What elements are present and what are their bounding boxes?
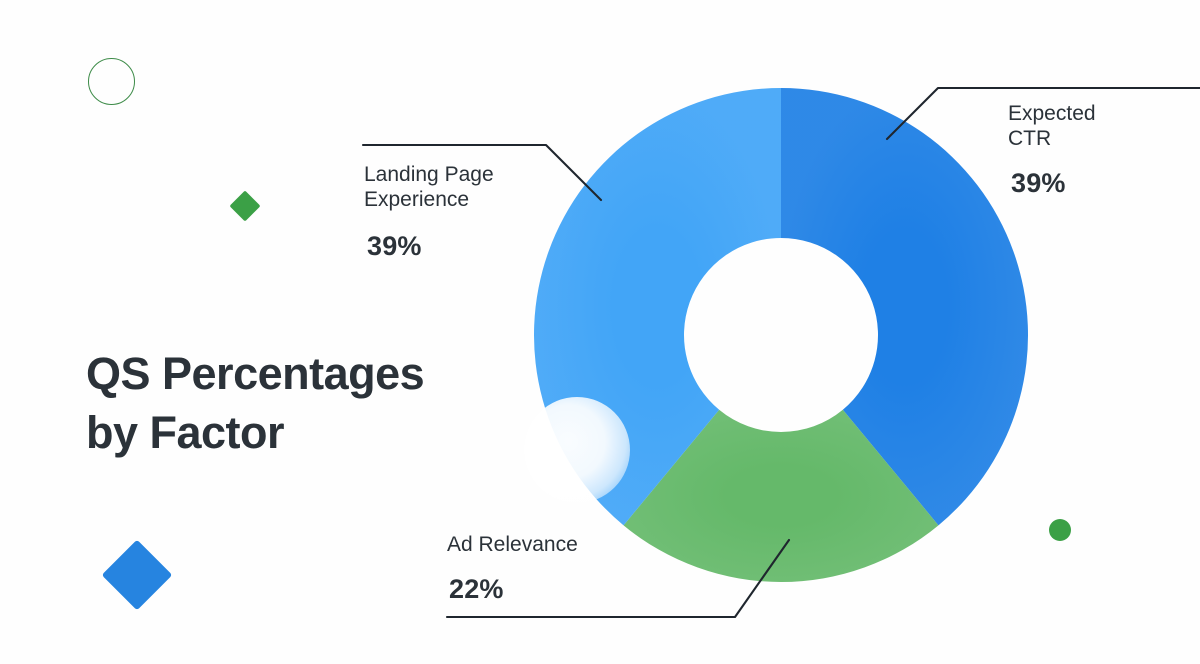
callout-label-landing-page: Landing Page Experience [364,163,494,213]
infographic-canvas: QS Percentages by Factor Landing Page Ex… [0,0,1200,664]
callout-label-expected-ctr: Expected CTR [1008,102,1096,152]
callout-label-ad-relevance: Ad Relevance [447,533,578,558]
donut-slices [534,88,1028,582]
donut-chart [534,88,1028,582]
callout-value-expected-ctr: 39% [1011,168,1066,199]
page-title: QS Percentages by Factor [86,344,506,463]
decorative-dot-green [1049,519,1071,541]
decorative-diamond-blue-large [102,540,173,611]
callout-value-landing-page: 39% [367,231,422,262]
decorative-circle-outline [88,58,135,105]
decorative-diamond-green-small [229,190,260,221]
callout-value-ad-relevance: 22% [449,574,504,605]
